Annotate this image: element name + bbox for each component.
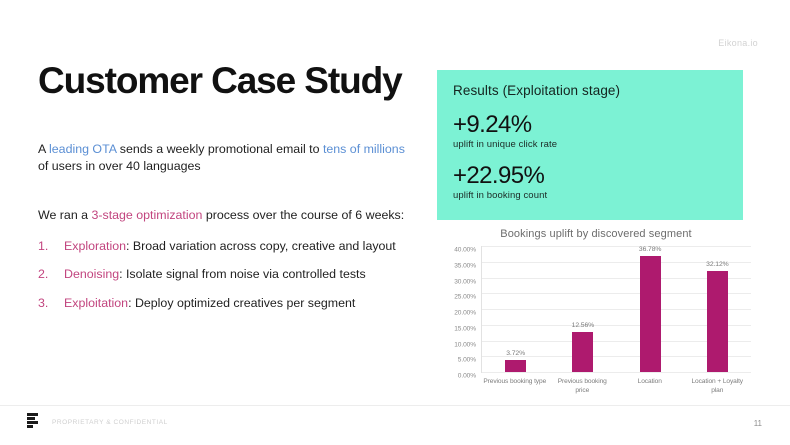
chart-bar-value-label: 32.12% bbox=[706, 261, 728, 268]
chart-x-axis-labels: Previous booking typePrevious booking pr… bbox=[481, 372, 751, 396]
chart-bar-cell: 3.72% bbox=[482, 246, 549, 372]
page-title: Customer Case Study bbox=[38, 62, 413, 101]
chart-y-tick: 5.00% bbox=[458, 357, 476, 364]
intro-paragraph: A leading OTA sends a weekly promotional… bbox=[38, 141, 413, 176]
company-logo-icon bbox=[27, 413, 40, 428]
stat-value: +22.95% bbox=[453, 163, 547, 188]
chart-bars: 3.72%12.56%36.78%32.12% bbox=[482, 246, 751, 372]
list-item-text: : Isolate signal from noise via controll… bbox=[119, 267, 366, 281]
chart-plot-area: 3.72%12.56%36.78%32.12% bbox=[481, 246, 751, 372]
bar-chart: Bookings uplift by discovered segment 0.… bbox=[437, 228, 755, 406]
chart-bar-value-label: 12.56% bbox=[572, 322, 594, 329]
chart-x-tick: Previous booking type bbox=[481, 378, 549, 396]
chart-y-axis-labels: 0.00%5.00%10.00%15.00%20.00%25.00%30.00%… bbox=[437, 250, 479, 376]
intro-text-1: A bbox=[38, 142, 49, 156]
intro-text-3: of users in over 40 languages bbox=[38, 159, 201, 173]
list-item: 1.Exploration: Broad variation across co… bbox=[38, 238, 413, 256]
lead-text-1: We ran a bbox=[38, 208, 92, 222]
steps-list: 1.Exploration: Broad variation across co… bbox=[38, 238, 413, 313]
list-item-term: Exploration bbox=[64, 239, 126, 253]
left-content-column: Customer Case Study A leading OTA sends … bbox=[38, 62, 413, 324]
stat-click-rate: +9.24% uplift in unique click rate bbox=[453, 112, 557, 150]
chart-bar-cell: 36.78% bbox=[617, 246, 684, 372]
list-item-term: Denoising bbox=[64, 267, 119, 281]
footer-divider bbox=[0, 405, 790, 406]
list-item-number: 2. bbox=[38, 266, 48, 284]
chart-y-tick: 0.00% bbox=[458, 373, 476, 380]
chart-title: Bookings uplift by discovered segment bbox=[437, 228, 755, 240]
chart-bar[interactable]: 12.56% bbox=[572, 332, 593, 372]
slide: Eikona.io Customer Case Study A leading … bbox=[0, 0, 790, 445]
chart-bar-value-label: 3.72% bbox=[506, 350, 525, 357]
chart-y-tick: 20.00% bbox=[454, 310, 476, 317]
list-item-term: Exploitation bbox=[64, 296, 128, 310]
chart-y-tick: 35.00% bbox=[454, 262, 476, 269]
chart-y-tick: 10.00% bbox=[454, 341, 476, 348]
intro-link-leading-ota: leading OTA bbox=[49, 142, 116, 156]
chart-x-tick: Location bbox=[616, 378, 684, 396]
lead-accent-3-stage: 3-stage optimization bbox=[92, 208, 203, 222]
chart-bar[interactable]: 32.12% bbox=[707, 271, 728, 372]
chart-bar-value-label: 36.78% bbox=[639, 246, 661, 253]
stat-caption: uplift in booking count bbox=[453, 190, 547, 201]
results-card: Results (Exploitation stage) +9.24% upli… bbox=[437, 70, 743, 220]
intro-link-tens-of-millions: tens of millions bbox=[323, 142, 405, 156]
chart-bar-cell: 32.12% bbox=[684, 246, 751, 372]
brand-watermark: Eikona.io bbox=[718, 38, 758, 48]
chart-y-tick: 40.00% bbox=[454, 247, 476, 254]
list-item-text: : Deploy optimized creatives per segment bbox=[128, 296, 355, 310]
list-item-text: : Broad variation across copy, creative … bbox=[126, 239, 396, 253]
page-number: 11 bbox=[754, 419, 762, 428]
results-card-title: Results (Exploitation stage) bbox=[453, 83, 620, 98]
chart-gridline bbox=[482, 372, 751, 373]
chart-y-tick: 30.00% bbox=[454, 278, 476, 285]
chart-x-tick: Previous booking price bbox=[549, 378, 617, 396]
list-item: 2.Denoising: Isolate signal from noise v… bbox=[38, 266, 413, 284]
chart-x-tick: Location + Loyalty plan bbox=[684, 378, 752, 396]
list-item: 3.Exploitation: Deploy optimized creativ… bbox=[38, 295, 413, 313]
stat-booking-count: +22.95% uplift in booking count bbox=[453, 163, 547, 201]
lead-paragraph: We ran a 3-stage optimization process ov… bbox=[38, 207, 413, 225]
lead-text-2: process over the course of 6 weeks: bbox=[202, 208, 404, 222]
stat-caption: uplift in unique click rate bbox=[453, 139, 557, 150]
chart-bar[interactable]: 3.72% bbox=[505, 360, 526, 372]
chart-y-tick: 15.00% bbox=[454, 325, 476, 332]
intro-text-2: sends a weekly promotional email to bbox=[116, 142, 323, 156]
chart-y-tick: 25.00% bbox=[454, 294, 476, 301]
confidentiality-notice: PROPRIETARY & CONFIDENTIAL bbox=[52, 419, 168, 426]
list-item-number: 1. bbox=[38, 238, 48, 256]
list-item-number: 3. bbox=[38, 295, 48, 313]
chart-bar[interactable]: 36.78% bbox=[640, 256, 661, 372]
stat-value: +9.24% bbox=[453, 112, 557, 137]
chart-bar-cell: 12.56% bbox=[549, 246, 616, 372]
